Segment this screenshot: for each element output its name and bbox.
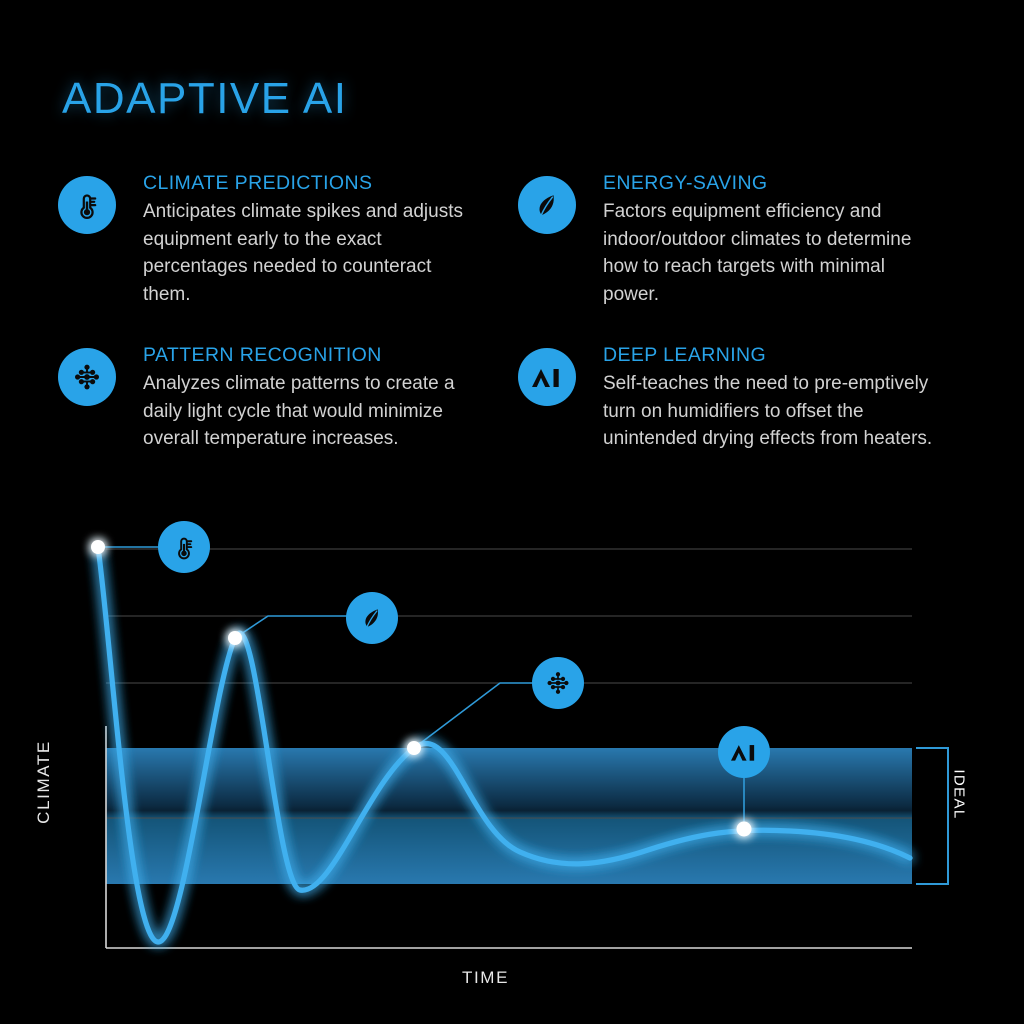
thermometer-icon bbox=[58, 176, 116, 234]
infographic-page: ADAPTIVE AI CLIMATE PREDICTIONS bbox=[0, 0, 1024, 1024]
leaf-icon bbox=[518, 176, 576, 234]
feature-text: PATTERN RECOGNITION Analyzes climate pat… bbox=[143, 342, 473, 453]
climate-time-chart: CLIMATE TIME IDEAL bbox=[0, 500, 1024, 1024]
feature-title: DEEP LEARNING bbox=[603, 344, 933, 367]
chart-leaf-icon bbox=[346, 592, 398, 644]
feature-climate-predictions: CLIMATE PREDICTIONS Anticipates climate … bbox=[58, 170, 518, 342]
data-point bbox=[91, 540, 105, 554]
chart-canvas bbox=[0, 500, 1024, 1024]
feature-title: CLIMATE PREDICTIONS bbox=[143, 172, 473, 195]
x-axis-label: TIME bbox=[462, 968, 509, 988]
feature-text: DEEP LEARNING Self-teaches the need to p… bbox=[603, 342, 933, 453]
data-point bbox=[737, 822, 752, 837]
ideal-band bbox=[106, 748, 912, 884]
ai-logo-icon bbox=[518, 348, 576, 406]
feature-title: ENERGY-SAVING bbox=[603, 172, 933, 195]
chart-thermometer-icon bbox=[158, 521, 210, 573]
feature-description: Factors equipment efficiency and indoor/… bbox=[603, 198, 933, 308]
data-point bbox=[228, 631, 242, 645]
data-point bbox=[407, 741, 421, 755]
feature-energy-saving: ENERGY-SAVING Factors equipment efficien… bbox=[518, 170, 978, 342]
y-axis-label: CLIMATE bbox=[34, 722, 54, 842]
feature-grid: CLIMATE PREDICTIONS Anticipates climate … bbox=[58, 170, 978, 514]
feature-text: CLIMATE PREDICTIONS Anticipates climate … bbox=[143, 170, 473, 308]
molecule-pattern-icon bbox=[58, 348, 116, 406]
ideal-band-label: IDEAL bbox=[951, 740, 968, 850]
feature-deep-learning: DEEP LEARNING Self-teaches the need to p… bbox=[518, 342, 978, 514]
feature-pattern-recognition: PATTERN RECOGNITION Analyzes climate pat… bbox=[58, 342, 518, 514]
feature-description: Anticipates climate spikes and adjusts e… bbox=[143, 198, 473, 308]
ideal-bracket bbox=[916, 748, 948, 884]
page-title: ADAPTIVE AI bbox=[62, 74, 347, 124]
chart-molecule-pattern-icon bbox=[532, 657, 584, 709]
feature-description: Self-teaches the need to pre-emptively t… bbox=[603, 370, 933, 453]
feature-description: Analyzes climate patterns to create a da… bbox=[143, 370, 473, 453]
feature-title: PATTERN RECOGNITION bbox=[143, 344, 473, 367]
chart-ai-logo-icon bbox=[718, 726, 770, 778]
feature-text: ENERGY-SAVING Factors equipment efficien… bbox=[603, 170, 933, 308]
